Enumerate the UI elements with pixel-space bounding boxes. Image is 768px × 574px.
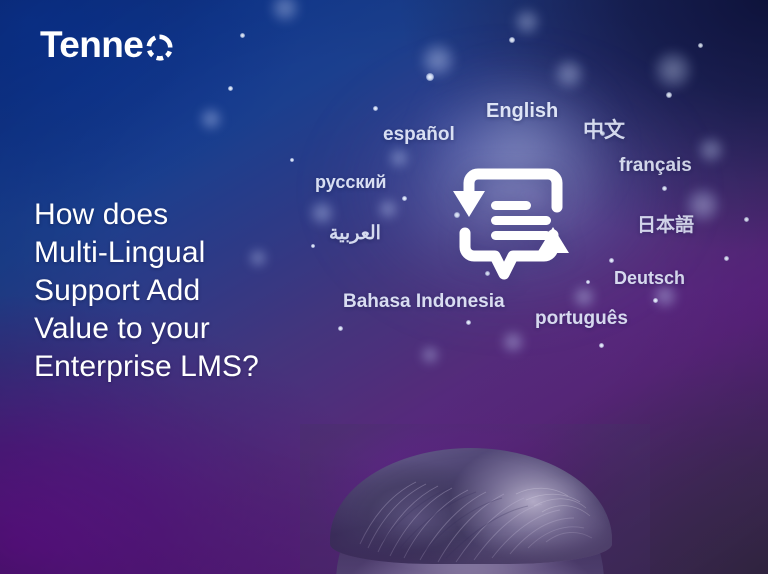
language-label: português (535, 308, 628, 330)
language-label: العربية (329, 222, 381, 245)
page-title: How does Multi-Lingual Support Add Value… (34, 196, 334, 386)
headline-line-3: Support Add (34, 272, 334, 310)
segmented-ring-icon (146, 34, 173, 61)
language-label: español (383, 124, 455, 146)
language-label: 日本語 (637, 210, 694, 237)
language-label: русский (315, 172, 386, 193)
language-label: Deutsch (614, 268, 685, 289)
brand-wordmark: Tenne (40, 26, 143, 63)
person-photo (0, 424, 768, 574)
hair-strand-detail (330, 448, 612, 564)
brand-logo[interactable]: Tenne (40, 26, 173, 63)
headline-line-1: How does (34, 196, 334, 234)
language-label: Bahasa Indonesia (343, 291, 505, 313)
headline-line-4: Value to your (34, 310, 334, 348)
headline-line-2: Multi-Lingual (34, 234, 334, 272)
language-label: English (486, 100, 558, 123)
translate-chat-bubble-icon (436, 163, 586, 281)
headline-line-5: Enterprise LMS? (34, 348, 334, 386)
language-label: français (619, 155, 692, 177)
promo-banner: Tenne How does Multi-Lingual Support Add… (0, 0, 768, 574)
language-label: 中文 (583, 114, 625, 144)
